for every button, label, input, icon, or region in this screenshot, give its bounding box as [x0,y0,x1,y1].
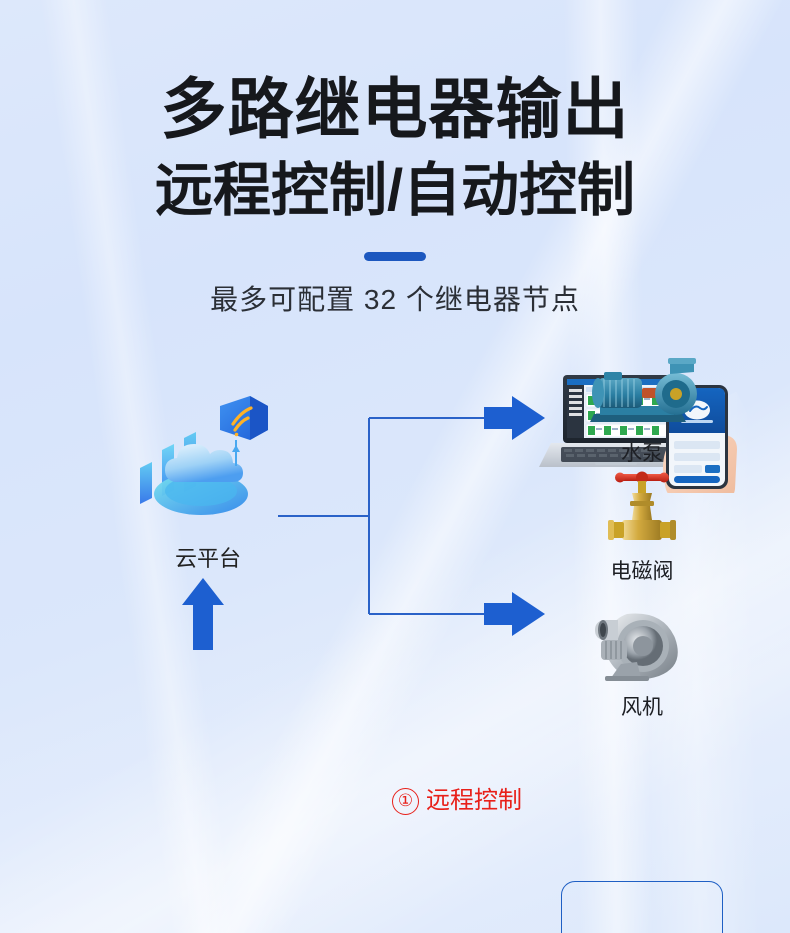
blower-fan-icon [587,606,697,684]
title-divider [364,252,426,261]
device-solenoid-valve: 电磁阀 [561,468,723,585]
cloud-platform-icon [128,390,288,530]
controlled-devices-box [561,881,723,933]
device-blower-fan: 风机 [561,606,723,721]
promo-page: 多路继电器输出 远程控制/自动控制 最多可配置 32 个继电器节点 [0,0,790,933]
arrow-relay-control [484,592,545,636]
cloud-platform-label: 云平台 [128,541,288,573]
header: 多路继电器输出 远程控制/自动控制 最多可配置 32 个继电器节点 [0,0,790,317]
architecture-diagram: 云平台 ①远程控制 ②继电器控制 [0,350,790,933]
water-pump-icon [582,358,702,430]
step-label-1: 远程控制 [426,787,522,814]
step-number-1: ① [392,788,419,815]
device-water-pump: 水泵 [561,358,723,467]
page-subtitle: 远程控制/自动控制 [0,156,790,226]
device-blower-fan-label: 风机 [561,691,723,721]
device-solenoid-valve-label: 电磁阀 [561,555,723,585]
page-title: 多路继电器输出 [0,70,790,148]
step-remote-control: ①远程控制 [392,780,522,815]
device-water-pump-label: 水泵 [561,437,723,467]
tagline: 最多可配置 32 个继电器节点 [0,283,790,317]
arrow-uplink [182,578,224,650]
cloud-platform-node: 云平台 [128,390,288,573]
solenoid-valve-icon [594,468,690,548]
